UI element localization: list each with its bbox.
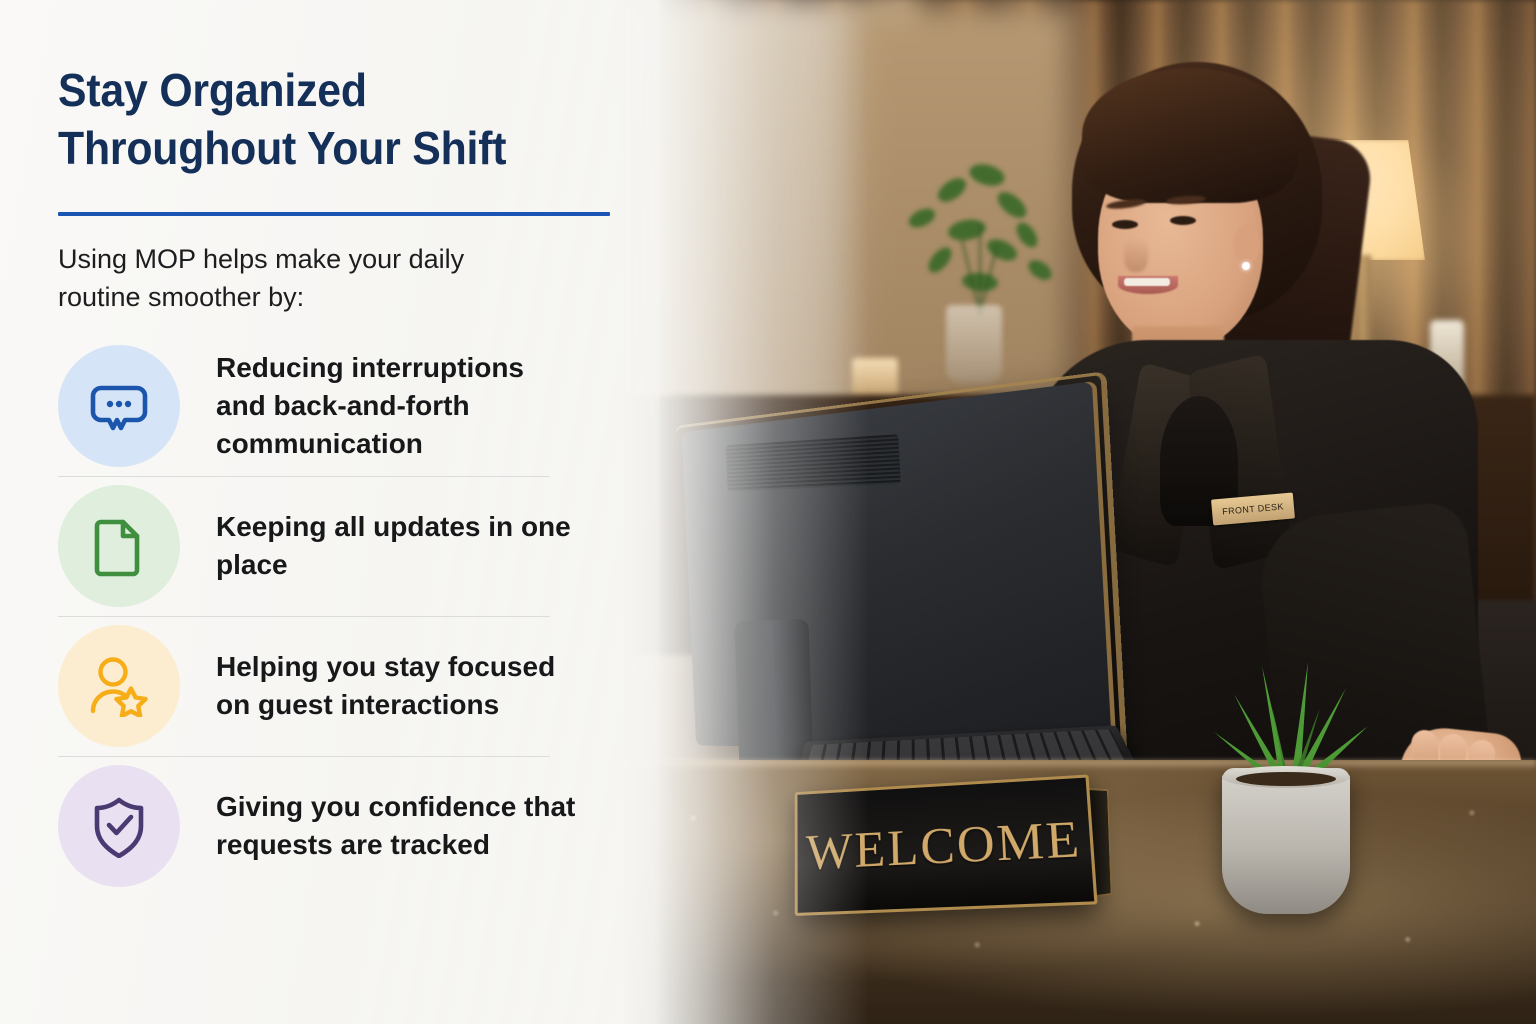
list-item: Keeping all updates in one place — [0, 476, 660, 616]
shield-check-icon — [58, 765, 180, 887]
teeth — [1124, 278, 1170, 286]
list-item-label: Helping you stay focused on guest intera… — [216, 648, 576, 724]
background-vase — [946, 305, 1002, 383]
counter-edge-highlight — [620, 760, 1536, 770]
subtitle: Using MOP helps make your daily routine … — [58, 240, 528, 317]
eye-right — [1170, 216, 1196, 225]
list-item: Helping you stay focused on guest intera… — [0, 616, 660, 756]
earring — [1242, 262, 1250, 270]
title-accent-rule — [58, 212, 610, 216]
page-title: Stay Organized Throughout Your Shift — [58, 62, 616, 178]
list-item: Reducing interruptions and back-and-fort… — [0, 336, 660, 476]
nose — [1124, 238, 1148, 272]
name-badge-label: FRONT DESK — [1222, 501, 1284, 516]
monitor-vent — [725, 434, 900, 491]
plant-soil — [1236, 772, 1336, 786]
document-page-icon — [58, 485, 180, 607]
welcome-sign: WELCOME — [788, 777, 1092, 915]
list-item-label: Giving you confidence that requests are … — [216, 788, 576, 864]
person-star-icon — [58, 625, 180, 747]
welcome-sign-label: WELCOME — [806, 809, 1083, 881]
eye-left — [1112, 220, 1138, 229]
list-item: Giving you confidence that requests are … — [0, 756, 660, 896]
chat-bubble-dots-icon — [58, 345, 180, 467]
list-item-label: Keeping all updates in one place — [216, 508, 576, 584]
ear — [1234, 224, 1260, 264]
infographic-canvas: FRONT DESK WELCOME — [0, 0, 1536, 1024]
benefits-list: Reducing interruptions and back-and-fort… — [0, 336, 660, 896]
hair-front — [1082, 68, 1297, 203]
front-desk-photo: FRONT DESK WELCOME — [620, 0, 1536, 1024]
list-item-label: Reducing interruptions and back-and-fort… — [216, 349, 576, 463]
background-candle — [852, 358, 898, 398]
left-content: Stay Organized Throughout Your Shift Usi… — [0, 0, 660, 1024]
welcome-sign-face: WELCOME — [795, 774, 1098, 915]
plant-pot — [1222, 768, 1350, 914]
